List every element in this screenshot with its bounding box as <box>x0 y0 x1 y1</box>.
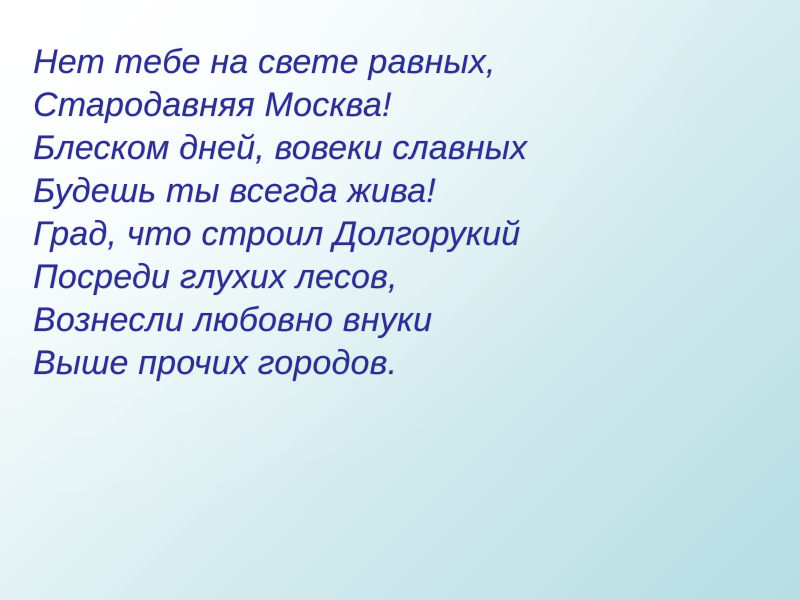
poem-line: Блеском дней, вовеки славных <box>33 127 753 170</box>
poem-line: Стародавняя Москва! <box>33 84 753 127</box>
poem-line: Посреди глухих лесов, <box>33 256 753 299</box>
poem-line: Выше прочих городов. <box>33 342 753 385</box>
slide-canvas: Нет тебе на свете равных, Стародавняя Мо… <box>0 0 800 600</box>
poem-line: Будешь ты всегда жива! <box>33 170 753 213</box>
poem-line: Вознесли любовно внуки <box>33 299 753 342</box>
poem-text-block: Нет тебе на свете равных, Стародавняя Мо… <box>33 41 753 385</box>
poem-line: Град, что строил Долгорукий <box>33 213 753 256</box>
poem-line: Нет тебе на свете равных, <box>33 41 753 84</box>
